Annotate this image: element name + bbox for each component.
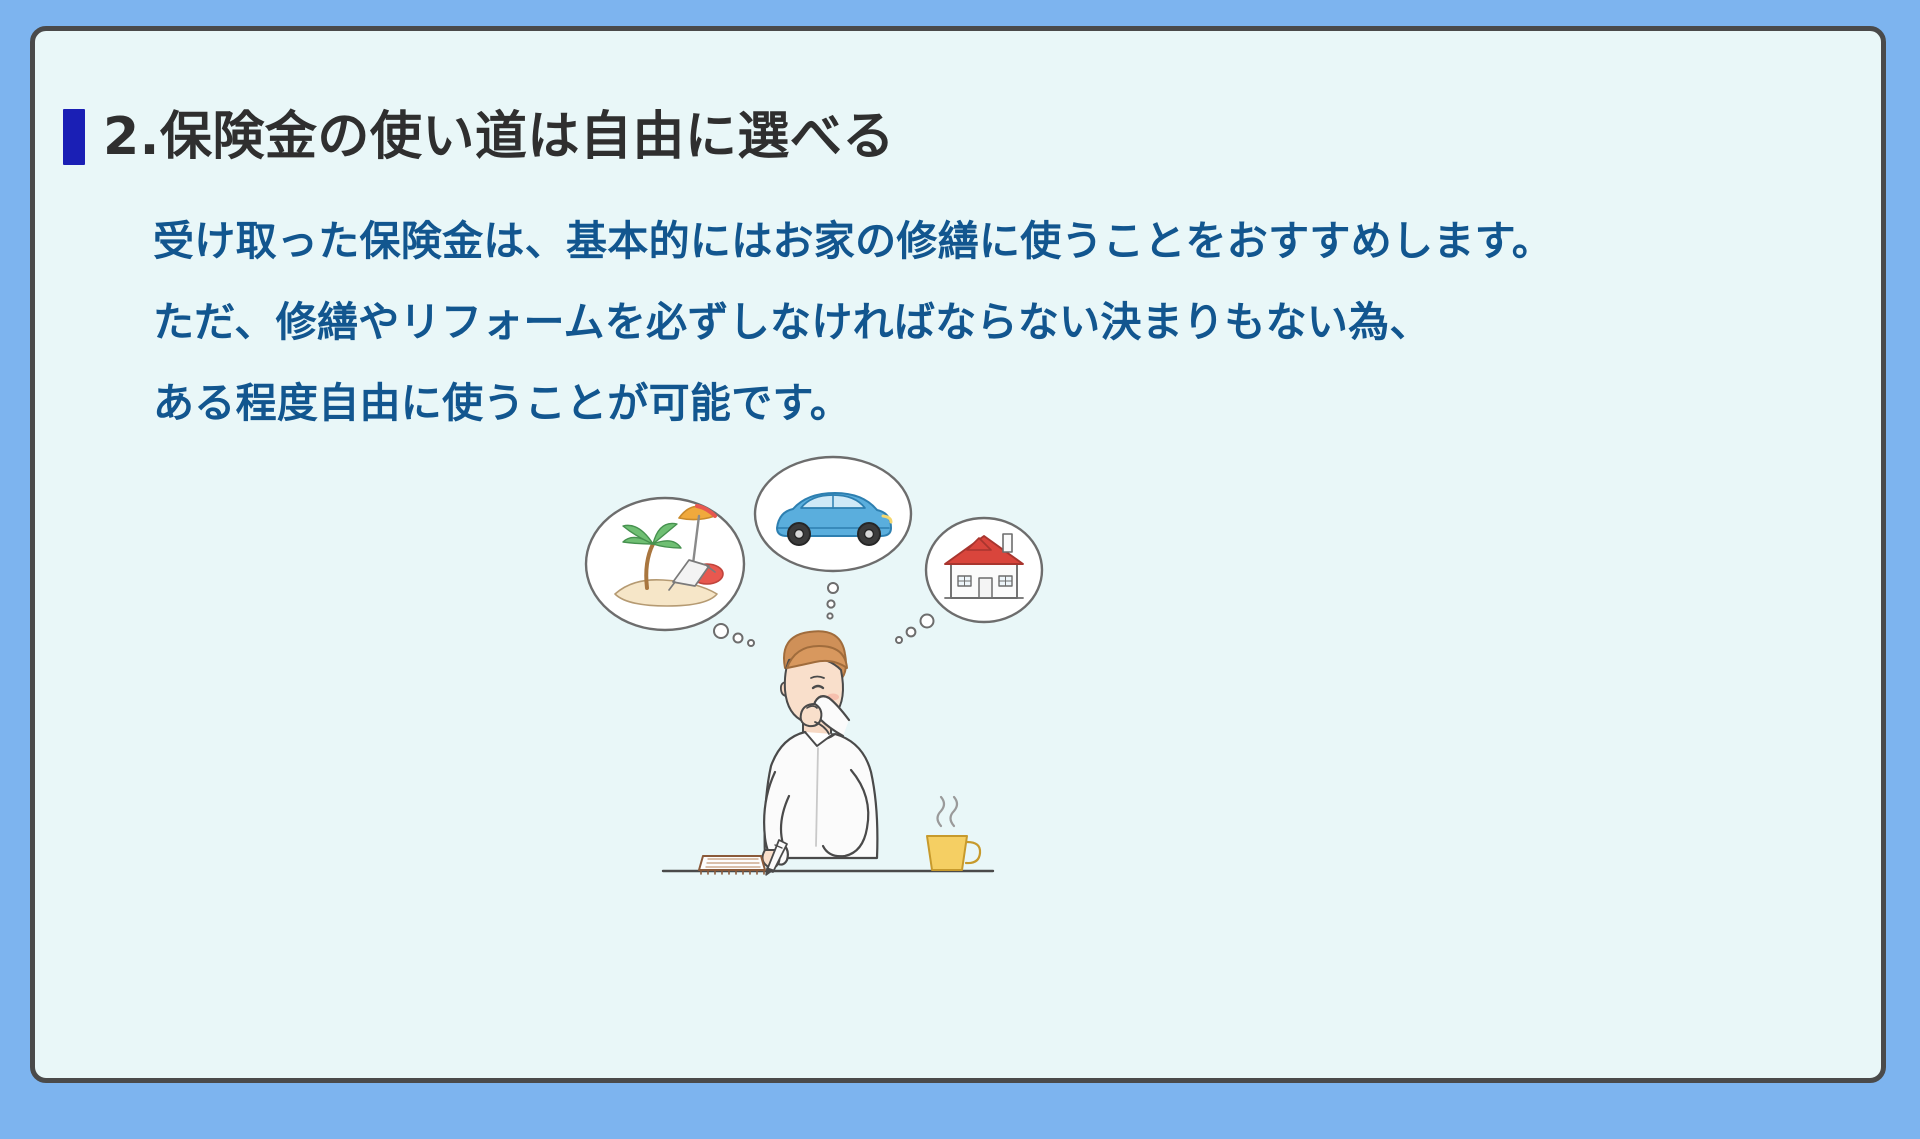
content-card: 2.保険金の使い道は自由に選べる 受け取った保険金は、基本的にはお家の修繕に使う… bbox=[30, 26, 1886, 1083]
coffee-mug-icon bbox=[927, 797, 980, 870]
body-line-3: ある程度自由に使うことが可能です。 bbox=[153, 363, 1853, 444]
body-line-1: 受け取った保険金は、基本的にはお家の修繕に使うことをおすすめします。 bbox=[153, 201, 1853, 282]
body-paragraph: 受け取った保険金は、基本的にはお家の修繕に使うことをおすすめします。 ただ、修繕… bbox=[153, 201, 1853, 444]
house-bubble bbox=[926, 518, 1042, 622]
thinking-man-illustration bbox=[575, 436, 1075, 906]
car-bubble bbox=[755, 457, 911, 571]
beach-vacation-bubble bbox=[586, 498, 744, 630]
title-accent-bar bbox=[63, 109, 85, 165]
body-line-2: ただ、修繕やリフォームを必ずしなければならない決まりもない為、 bbox=[153, 282, 1853, 363]
slide-stage: 2.保険金の使い道は自由に選べる 受け取った保険金は、基本的にはお家の修繕に使う… bbox=[0, 0, 1920, 1139]
thinking-person bbox=[762, 631, 877, 868]
title-text: 2.保険金の使い道は自由に選べる bbox=[103, 111, 895, 163]
page-title: 2.保険金の使い道は自由に選べる bbox=[63, 109, 895, 165]
